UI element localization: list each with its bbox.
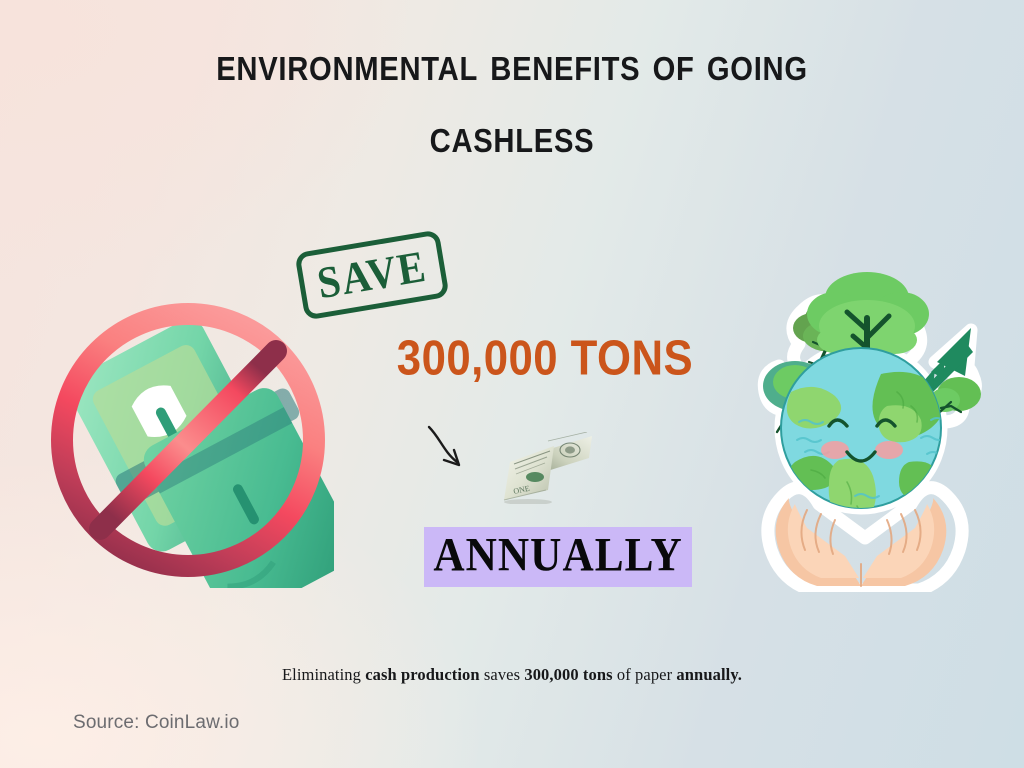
caption-bold-3: annually. bbox=[676, 665, 742, 684]
infographic-canvas: Environmental Benefits of Going Cashless bbox=[0, 0, 1024, 768]
savings-amount-text: 300,000 TONS bbox=[373, 331, 717, 385]
page-title-line-1: Environmental Benefits of Going bbox=[114, 28, 911, 100]
caption-bold-2: 300,000 tons bbox=[524, 665, 612, 684]
caption-text: Eliminating cash production saves 300,00… bbox=[112, 664, 912, 686]
caption-bold-1: cash production bbox=[365, 665, 479, 684]
source-attribution: Source: CoinLaw.io bbox=[73, 712, 239, 734]
page-title-line-2: Cashless bbox=[114, 100, 911, 172]
save-stamp-label: SAVE bbox=[292, 225, 451, 325]
earth-in-hands-icon bbox=[735, 256, 987, 592]
save-stamp: SAVE bbox=[294, 229, 449, 320]
page-title: Environmental Benefits of Going Cashless bbox=[114, 28, 911, 172]
caption-part-2: saves bbox=[480, 665, 525, 684]
caption-part-3: of paper bbox=[613, 665, 677, 684]
annually-badge-label: ANNUALLY bbox=[433, 531, 682, 582]
curved-arrow-icon bbox=[424, 422, 494, 480]
annually-badge: ANNUALLY bbox=[424, 527, 692, 587]
dollar-bill-image: ONE bbox=[488, 432, 594, 504]
no-cash-icon bbox=[42, 288, 334, 588]
caption-part-1: Eliminating bbox=[282, 665, 365, 684]
